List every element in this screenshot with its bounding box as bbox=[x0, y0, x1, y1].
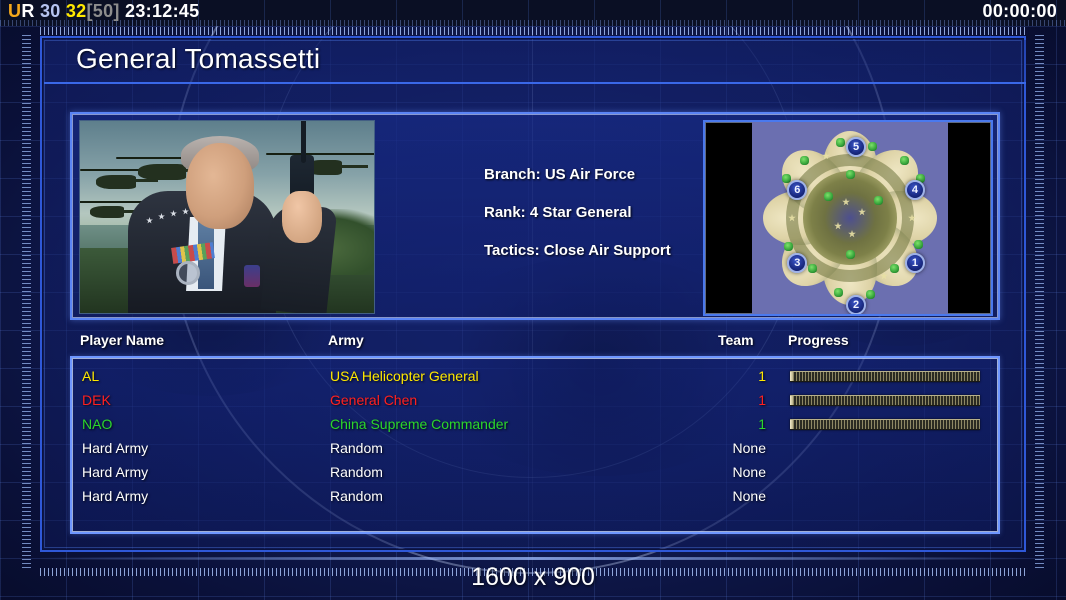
player-army: General Chen bbox=[330, 388, 417, 412]
minimap-start-position-3: 3 bbox=[787, 253, 807, 273]
general-portrait bbox=[79, 120, 375, 314]
footer-divider bbox=[40, 557, 1026, 560]
player-name: Hard Army bbox=[82, 436, 148, 460]
column-header-army: Army bbox=[328, 332, 364, 348]
progress-bar bbox=[790, 419, 980, 430]
table-row[interactable]: Hard ArmyRandomNone bbox=[72, 460, 998, 484]
player-team: 1 bbox=[722, 364, 766, 388]
rank-label: Rank: 4 Star General bbox=[484, 204, 671, 221]
stat-elapsed-time: 23:12:45 bbox=[125, 1, 199, 21]
player-table: ALUSA Helicopter General1DEKGeneral Chen… bbox=[70, 356, 1000, 534]
tactics-label: Tactics: Close Air Support bbox=[484, 242, 671, 259]
progress-bar bbox=[790, 395, 980, 406]
session-clock: 00:00:00 bbox=[983, 1, 1057, 22]
game-screen: UR 30 32[50] 23:12:45 00:00:00 General T… bbox=[0, 0, 1066, 600]
portrait-badge bbox=[176, 261, 200, 285]
player-name: Hard Army bbox=[82, 460, 148, 484]
minimap-start-position-1: 1 bbox=[905, 253, 925, 273]
player-team: None bbox=[722, 460, 766, 484]
player-team: 1 bbox=[722, 388, 766, 412]
player-army: Random bbox=[330, 460, 383, 484]
player-name: NAO bbox=[82, 412, 112, 436]
stat-prefix-u: U bbox=[8, 1, 21, 21]
minimap-start-position-2: 2 bbox=[846, 295, 866, 314]
table-row[interactable]: Hard ArmyRandomNone bbox=[72, 484, 998, 508]
progress-bar bbox=[790, 371, 980, 382]
minimap-preview: 564312 bbox=[752, 122, 948, 314]
table-row[interactable]: Hard ArmyRandomNone bbox=[72, 436, 998, 460]
window-title-bar: General Tomassetti bbox=[44, 40, 1026, 84]
column-header-name: Player Name bbox=[80, 332, 164, 348]
stat-prefix-r: R bbox=[21, 1, 34, 21]
minimap-start-position-6: 6 bbox=[787, 180, 807, 200]
stat-value-1: 30 bbox=[40, 1, 61, 21]
general-stats-block: Branch: US Air Force Rank: 4 Star Genera… bbox=[484, 166, 671, 280]
player-army: Random bbox=[330, 484, 383, 508]
portrait-medal bbox=[244, 265, 260, 287]
player-table-header: Player NameArmyTeamProgress bbox=[70, 332, 1000, 354]
resolution-label: 1600 x 900 bbox=[0, 563, 1066, 592]
minimap-container: 564312 bbox=[703, 120, 993, 316]
minimap-island bbox=[762, 130, 938, 306]
player-army: Random bbox=[330, 436, 383, 460]
minimap-start-position-4: 4 bbox=[905, 180, 925, 200]
portrait-hand bbox=[282, 191, 322, 243]
branch-label: Branch: US Air Force bbox=[484, 166, 671, 183]
player-army: USA Helicopter General bbox=[330, 364, 479, 388]
page-title: General Tomassetti bbox=[76, 43, 320, 75]
player-name: DEK bbox=[82, 388, 111, 412]
general-info-panel: Branch: US Air Force Rank: 4 Star Genera… bbox=[70, 112, 1000, 320]
portrait-radio-antenna bbox=[301, 120, 306, 163]
portrait-face bbox=[186, 143, 254, 229]
loading-window: General Tomassetti bbox=[40, 36, 1026, 552]
player-team: None bbox=[722, 436, 766, 460]
network-stats-readout: UR 30 32[50] 23:12:45 bbox=[8, 1, 199, 22]
stat-bracket-value: [50] bbox=[87, 1, 120, 21]
column-header-progress: Progress bbox=[788, 332, 849, 348]
top-status-bar: UR 30 32[50] 23:12:45 00:00:00 bbox=[0, 0, 1066, 26]
table-row[interactable]: ALUSA Helicopter General1 bbox=[72, 364, 998, 388]
table-row[interactable]: DEKGeneral Chen1 bbox=[72, 388, 998, 412]
player-team: None bbox=[722, 484, 766, 508]
player-name: AL bbox=[82, 364, 99, 388]
table-row[interactable]: NAOChina Supreme Commander1 bbox=[72, 412, 998, 436]
player-team: 1 bbox=[722, 412, 766, 436]
player-name: Hard Army bbox=[82, 484, 148, 508]
column-header-team: Team bbox=[718, 332, 754, 348]
stat-value-2: 32 bbox=[66, 1, 87, 21]
player-army: China Supreme Commander bbox=[330, 412, 508, 436]
